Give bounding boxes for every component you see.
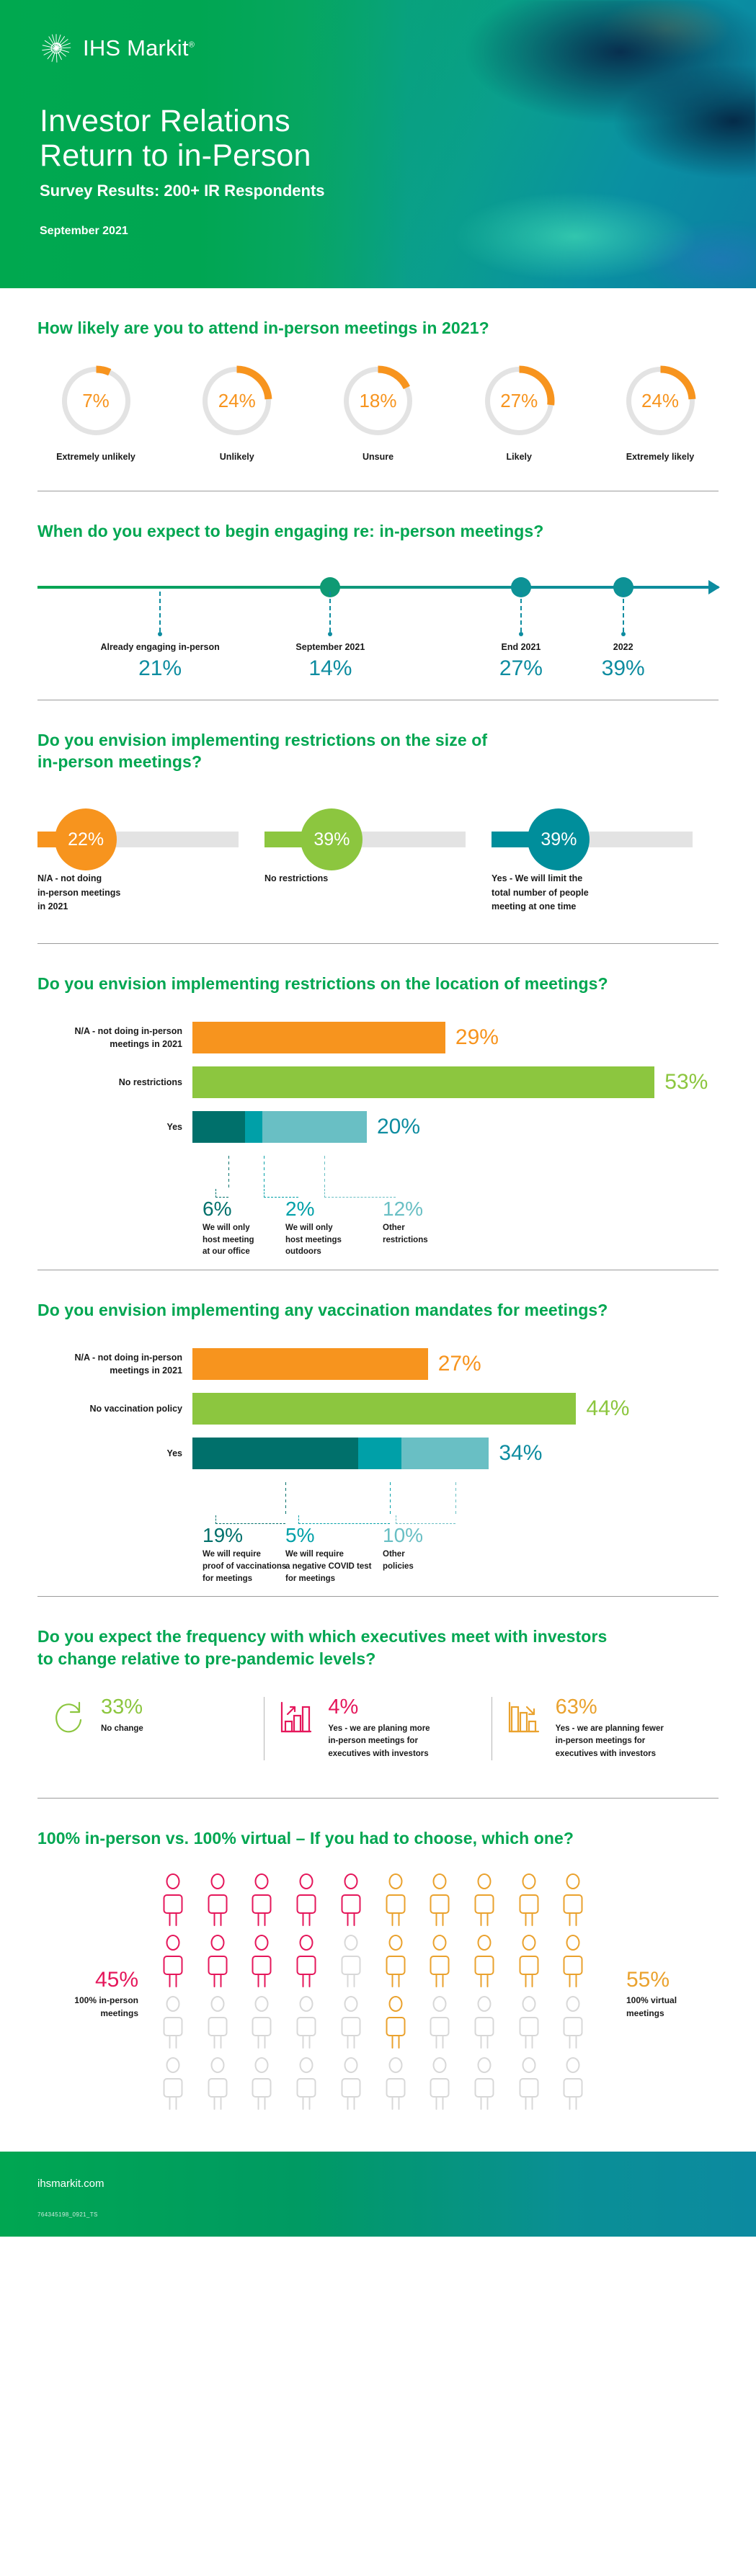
pill-stat-3: 39%Yes - We will limit thetotal number o…	[492, 801, 719, 914]
bar-label: N/A - not doing in-personmeetings in 202…	[37, 1351, 192, 1377]
timeline-connector	[329, 592, 331, 632]
callout-label-line: for meetings	[285, 1573, 372, 1585]
donut-ring: 24%	[199, 363, 275, 439]
bar-label-line: N/A - not doing in-person	[37, 1025, 182, 1038]
gauge-row: 7%Extremely unlikely24%Unlikely18%Unsure…	[37, 363, 719, 462]
bar-label-line: No vaccination policy	[37, 1402, 182, 1415]
person-figure	[468, 1873, 510, 1930]
gauge-5: 24%Extremely likely	[606, 363, 714, 462]
callout-2: 2%We will onlyhost meetingsoutdoors	[285, 1198, 342, 1258]
bar-label-line: Yes	[37, 1120, 182, 1133]
pill-circle-value: 39%	[528, 808, 590, 870]
callout-connector	[390, 1482, 391, 1515]
person-figure	[246, 1873, 288, 1930]
left-label-line: 100% in-person	[37, 1994, 138, 2007]
horizontal-bar-chart: N/A - not doing in-personmeetings in 202…	[37, 1022, 719, 1143]
timeline-item-label: September 2021	[295, 642, 365, 652]
bar	[192, 1022, 445, 1053]
callout-label: Otherpolicies	[383, 1548, 423, 1572]
bar-segment	[192, 1111, 245, 1143]
person-figure	[290, 1935, 332, 1992]
bar-label: No restrictions	[37, 1076, 192, 1089]
pill-label: N/A - not doingin-person meetingsin 2021	[37, 872, 264, 914]
gauge-label: Unlikely	[183, 452, 291, 462]
bar-label-line: N/A - not doing in-person	[37, 1351, 182, 1364]
publication-date: September 2021	[40, 225, 756, 238]
callout-elbow	[264, 1189, 298, 1198]
bar-value: 20%	[377, 1115, 420, 1139]
person-figure	[557, 1996, 599, 2053]
donut-ring: 27%	[481, 363, 557, 439]
question-2-section: When do you expect to begin engaging re:…	[0, 520, 756, 680]
person-figure	[157, 1873, 199, 1930]
gauge-label: Likely	[465, 452, 573, 462]
callout-elbow	[396, 1515, 455, 1524]
person-figure	[335, 1996, 377, 2053]
callout-1: 19%We will requireproof of vaccinationsf…	[203, 1524, 286, 1585]
person-figure	[468, 1935, 510, 1992]
callout-connector	[455, 1482, 456, 1515]
callout-value: 19%	[203, 1524, 286, 1547]
gauge-value: 7%	[58, 363, 134, 439]
question-3-title-line1: Do you envision implementing restriction…	[37, 729, 719, 751]
bar-segment	[262, 1111, 367, 1143]
exec-label-line: executives with investors	[328, 1748, 430, 1760]
question-3-section: Do you envision implementing restriction…	[0, 729, 756, 914]
callout-connector	[324, 1156, 325, 1189]
bar-chart-up-icon	[277, 1697, 318, 1760]
timeline-dot	[519, 632, 523, 636]
bar-row: Yes34%	[37, 1438, 719, 1469]
breakdown-callouts: 19%We will requireproof of vaccinationsf…	[203, 1482, 719, 1577]
question-7-section: 100% in-person vs. 100% virtual – If you…	[0, 1827, 756, 2114]
question-1-title: How likely are you to attend in-person m…	[37, 317, 719, 339]
person-figure	[202, 1935, 244, 1992]
timeline-item: 202239%	[602, 642, 645, 681]
callout-label-line: policies	[383, 1561, 423, 1573]
timeline-dot	[328, 632, 332, 636]
page-title-line1: Investor Relations	[40, 104, 756, 138]
bar-segment	[358, 1438, 402, 1469]
callout-elbow	[298, 1515, 390, 1524]
callout-connector	[264, 1156, 264, 1189]
callout-label: We will onlyhost meetingat our office	[203, 1222, 254, 1258]
person-figure	[424, 1996, 466, 2053]
bar-segment	[192, 1438, 358, 1469]
pill-circle-value: 39%	[301, 808, 363, 870]
timeline-item: End 202127%	[499, 642, 543, 681]
person-figure	[335, 1935, 377, 1992]
person-figure	[468, 1996, 510, 2053]
callout-label-line: We will require	[285, 1548, 372, 1561]
donut-ring: 18%	[340, 363, 416, 439]
person-figure	[335, 2057, 377, 2114]
question-3-title: Do you envision implementing restriction…	[37, 729, 719, 773]
timeline-connector	[159, 592, 161, 632]
gauge-value: 18%	[340, 363, 416, 439]
left-percent: 45%	[37, 1968, 138, 1992]
question-5-title: Do you envision implementing any vaccina…	[37, 1299, 719, 1321]
horizontal-bar-chart: N/A - not doing in-personmeetings in 202…	[37, 1348, 719, 1469]
gauge-1: 7%Extremely unlikely	[42, 363, 150, 462]
gauge-value: 24%	[623, 363, 698, 439]
bar	[192, 1438, 489, 1469]
gauge-label: Unsure	[324, 452, 432, 462]
gauge-4: 27%Likely	[465, 363, 573, 462]
pictogram-left-stat: 45% 100% in-personmeetings	[37, 1968, 146, 2020]
gauge-2: 24%Unlikely	[183, 363, 291, 462]
pill-track: 22%	[37, 832, 264, 847]
infographic-page: IHS Markit® Investor Relations Return to…	[0, 0, 756, 2237]
timeline-item-value: 39%	[602, 656, 645, 681]
exec-value: 4%	[328, 1697, 430, 1718]
bar-label-line: No restrictions	[37, 1076, 182, 1089]
bar-label-line: meetings in 2021	[37, 1038, 182, 1051]
gauge-value: 27%	[481, 363, 557, 439]
exec-label-line: executives with investors	[556, 1748, 664, 1760]
callout-value: 10%	[383, 1524, 423, 1547]
circular-arrow-icon	[50, 1697, 91, 1760]
person-figure	[468, 2057, 510, 2114]
question-7-title: 100% in-person vs. 100% virtual – If you…	[37, 1827, 719, 1849]
person-figure	[380, 2057, 422, 2114]
bar-segment	[401, 1438, 489, 1469]
right-label: 100% virtualmeetings	[626, 1994, 719, 2020]
timeline-connector	[623, 592, 624, 632]
callout-elbow	[215, 1515, 285, 1524]
callout-label-line: proof of vaccinations	[203, 1561, 286, 1573]
bar-track: 34%	[192, 1438, 719, 1469]
question-6-section: Do you expect the frequency with which e…	[0, 1626, 756, 1760]
footer-url[interactable]: ihsmarkit.com	[37, 2178, 756, 2190]
person-figure	[380, 1873, 422, 1930]
timeline-connector	[520, 592, 522, 632]
pill-track: 39%	[492, 832, 719, 847]
person-figure	[380, 1935, 422, 1992]
question-1-section: How likely are you to attend in-person m…	[0, 317, 756, 462]
exec-label-line: in-person meetings for	[328, 1735, 430, 1747]
person-figure	[157, 2057, 199, 2114]
callout-label-line: a negative COVID test	[285, 1561, 372, 1573]
right-label-line: 100% virtual	[626, 1994, 719, 2007]
brand-lockup: IHS Markit®	[40, 32, 756, 65]
bar-label: No vaccination policy	[37, 1402, 192, 1415]
icon-stat-row: 33%No change4%Yes - we are planing morei…	[37, 1697, 719, 1760]
timeline-item-label: 2022	[602, 642, 645, 652]
pill-label-line: total number of people	[492, 886, 719, 900]
person-figure	[290, 2057, 332, 2114]
callout-label: We will requireproof of vaccinationsfor …	[203, 1548, 286, 1585]
bar	[192, 1111, 367, 1143]
exec-label-line: No change	[101, 1723, 143, 1735]
pill-label-line: in 2021	[37, 900, 264, 914]
callout-label-line: restrictions	[383, 1234, 428, 1247]
bar-value: 29%	[455, 1025, 499, 1050]
question-6-title-line2: to change relative to pre-pandemic level…	[37, 1648, 719, 1670]
timeline-item-label: End 2021	[499, 642, 543, 652]
timeline-chart: Already engaging in-person21%September 2…	[37, 573, 719, 681]
bar-label: Yes	[37, 1447, 192, 1460]
donut-ring: 7%	[58, 363, 134, 439]
bar-segment	[192, 1393, 576, 1425]
breakdown-callouts: 6%We will onlyhost meetingat our office2…	[203, 1156, 719, 1251]
callout-label-line: We will only	[203, 1222, 254, 1234]
bar-segment	[192, 1348, 428, 1380]
question-5-section: Do you envision implementing any vaccina…	[0, 1299, 756, 1577]
bar-row: N/A - not doing in-personmeetings in 202…	[37, 1348, 719, 1380]
bar-chart-down-icon	[505, 1697, 546, 1760]
timeline-item-value: 27%	[499, 656, 543, 681]
person-figure	[290, 1873, 332, 1930]
person-figure	[290, 1996, 332, 2053]
pill-label-line: meeting at one time	[492, 900, 719, 914]
bar-label: Yes	[37, 1120, 192, 1133]
page-title-line2: Return to in-Person	[40, 138, 756, 173]
person-figure	[202, 2057, 244, 2114]
exec-label: No change	[101, 1723, 143, 1735]
timeline-dot	[621, 632, 626, 636]
callout-label-line: outdoors	[285, 1246, 342, 1258]
callout-value: 2%	[285, 1198, 342, 1221]
person-figure	[557, 2057, 599, 2114]
bar-value: 44%	[586, 1396, 629, 1421]
question-6-title: Do you expect the frequency with which e…	[37, 1626, 719, 1670]
left-label: 100% in-personmeetings	[37, 1994, 138, 2020]
pictogram-chart: 45% 100% in-personmeetings 55% 100% virt…	[37, 1873, 719, 2114]
callout-label-line: Other	[383, 1222, 428, 1234]
callout-value: 6%	[203, 1198, 254, 1221]
question-6-title-line1: Do you expect the frequency with which e…	[37, 1626, 719, 1647]
brand-name: IHS Markit®	[83, 35, 195, 61]
bar-segment	[192, 1066, 654, 1098]
exec-label-line: Yes - we are planning fewer	[556, 1723, 664, 1735]
callout-3: 12%Otherrestrictions	[383, 1198, 428, 1246]
timeline-item-label: Already engaging in-person	[100, 642, 219, 652]
person-figure	[424, 1935, 466, 1992]
exec-label: Yes - we are planing morein-person meeti…	[328, 1723, 430, 1760]
callout-1: 6%We will onlyhost meetingat our office	[203, 1198, 254, 1258]
person-figure	[424, 1873, 466, 1930]
person-figure	[380, 1996, 422, 2053]
callout-connector	[228, 1156, 229, 1189]
question-3-title-line2: in-person meetings?	[37, 751, 719, 772]
callout-2: 5%We will requirea negative COVID testfo…	[285, 1524, 372, 1585]
timeline-arrow-icon	[708, 580, 720, 594]
question-2-title: When do you expect to begin engaging re:…	[37, 520, 719, 542]
callout-elbow	[324, 1189, 396, 1198]
bar-segment	[245, 1111, 262, 1143]
pill-circle-value: 22%	[55, 808, 117, 870]
pill-stat-1: 22%N/A - not doingin-person meetingsin 2…	[37, 801, 264, 914]
callout-label-line: host meetings	[285, 1234, 342, 1247]
person-figure	[335, 1873, 377, 1930]
page-footer: ihsmarkit.com 764345198_0921_TS	[0, 2152, 756, 2237]
callout-label: We will requirea negative COVID testfor …	[285, 1548, 372, 1585]
donut-ring: 24%	[623, 363, 698, 439]
bar-track: 44%	[192, 1393, 719, 1425]
callout-label-line: We will require	[203, 1548, 286, 1561]
bar-row: Yes20%	[37, 1111, 719, 1143]
pill-track: 39%	[264, 832, 492, 847]
person-figure	[513, 1996, 555, 2053]
person-figure	[202, 1873, 244, 1930]
pill-stat-2: 39%No restrictions	[264, 801, 492, 914]
exec-stat-1: 33%No change	[37, 1697, 264, 1760]
ihs-markit-sunburst-logo-icon	[40, 32, 73, 65]
pictogram-right-stat: 55% 100% virtualmeetings	[610, 1968, 719, 2020]
bar-row: No vaccination policy44%	[37, 1393, 719, 1425]
bar-value: 27%	[438, 1352, 481, 1376]
callout-elbow	[215, 1189, 228, 1198]
timeline-item-value: 21%	[100, 656, 219, 681]
gauge-label: Extremely unlikely	[42, 452, 150, 462]
bar-value: 53%	[664, 1070, 708, 1095]
bar-track: 53%	[192, 1066, 719, 1098]
timeline-dot	[158, 632, 162, 636]
callout-label-line: for meetings	[203, 1573, 286, 1585]
exec-stat-2: 4%Yes - we are planing morein-person mee…	[264, 1697, 491, 1760]
bar-track: 29%	[192, 1022, 719, 1053]
right-percent: 55%	[626, 1968, 719, 1992]
gauge-value: 24%	[199, 363, 275, 439]
timeline-item: September 202114%	[295, 642, 365, 681]
bar-row: No restrictions53%	[37, 1066, 719, 1098]
page-subtitle: Survey Results: 200+ IR Respondents	[40, 182, 756, 200]
bar-track: 27%	[192, 1348, 719, 1380]
gauge-label: Extremely likely	[606, 452, 714, 462]
footer-document-code: 764345198_0921_TS	[37, 2211, 756, 2218]
person-figure	[424, 2057, 466, 2114]
person-figure	[513, 2057, 555, 2114]
question-4-section: Do you envision implementing restriction…	[0, 973, 756, 1251]
exec-stat-3: 63%Yes - we are planning fewerin-person …	[492, 1697, 719, 1760]
person-figure	[557, 1935, 599, 1992]
person-figure	[513, 1935, 555, 1992]
callout-label: Otherrestrictions	[383, 1222, 428, 1246]
bar-track: 20%	[192, 1111, 719, 1143]
right-label-line: meetings	[626, 2007, 719, 2020]
callout-value: 5%	[285, 1524, 372, 1547]
pill-label-line: N/A - not doing	[37, 872, 264, 886]
bar-row: N/A - not doing in-personmeetings in 202…	[37, 1022, 719, 1053]
pill-label: Yes - We will limit thetotal number of p…	[492, 872, 719, 914]
page-title: Investor Relations Return to in-Person	[40, 104, 756, 173]
person-figure	[557, 1873, 599, 1930]
person-figure	[157, 1935, 199, 1992]
exec-value: 63%	[556, 1697, 664, 1718]
bar-label: N/A - not doing in-personmeetings in 202…	[37, 1025, 192, 1051]
pill-label-line: in-person meetings	[37, 886, 264, 900]
bar	[192, 1348, 428, 1380]
person-figure	[246, 1996, 288, 2053]
callout-label-line: host meeting	[203, 1234, 254, 1247]
pill-label-line: No restrictions	[264, 872, 492, 886]
pill-progress-row: 22%N/A - not doingin-person meetingsin 2…	[37, 801, 719, 914]
exec-label: Yes - we are planning fewerin-person mee…	[556, 1723, 664, 1760]
callout-3: 10%Otherpolicies	[383, 1524, 423, 1572]
timeline-item: Already engaging in-person21%	[100, 642, 219, 681]
bar-value: 34%	[499, 1441, 542, 1466]
pill-label: No restrictions	[264, 872, 492, 886]
exec-label-line: Yes - we are planing more	[328, 1723, 430, 1735]
person-figure	[246, 1935, 288, 1992]
pictogram-grid	[146, 1873, 610, 2114]
exec-label-line: in-person meetings for	[556, 1735, 664, 1747]
hero-header: IHS Markit® Investor Relations Return to…	[0, 0, 756, 288]
callout-label-line: Other	[383, 1548, 423, 1561]
pill-label-line: Yes - We will limit the	[492, 872, 719, 886]
callout-label-line: We will only	[285, 1222, 342, 1234]
callout-value: 12%	[383, 1198, 428, 1221]
callout-connector	[285, 1482, 286, 1515]
bar	[192, 1393, 576, 1425]
person-figure	[513, 1873, 555, 1930]
bar	[192, 1066, 654, 1098]
bar-segment	[192, 1022, 445, 1053]
person-figure	[246, 2057, 288, 2114]
exec-value: 33%	[101, 1697, 143, 1718]
bar-label-line: meetings in 2021	[37, 1364, 182, 1377]
gauge-3: 18%Unsure	[324, 363, 432, 462]
question-4-title: Do you envision implementing restriction…	[37, 973, 719, 994]
person-figure	[157, 1996, 199, 2053]
callout-label: We will onlyhost meetingsoutdoors	[285, 1222, 342, 1258]
person-figure	[202, 1996, 244, 2053]
timeline-item-value: 14%	[295, 656, 365, 681]
left-label-line: meetings	[37, 2007, 138, 2020]
callout-label-line: at our office	[203, 1246, 254, 1258]
bar-label-line: Yes	[37, 1447, 182, 1460]
registered-mark: ®	[189, 41, 195, 50]
